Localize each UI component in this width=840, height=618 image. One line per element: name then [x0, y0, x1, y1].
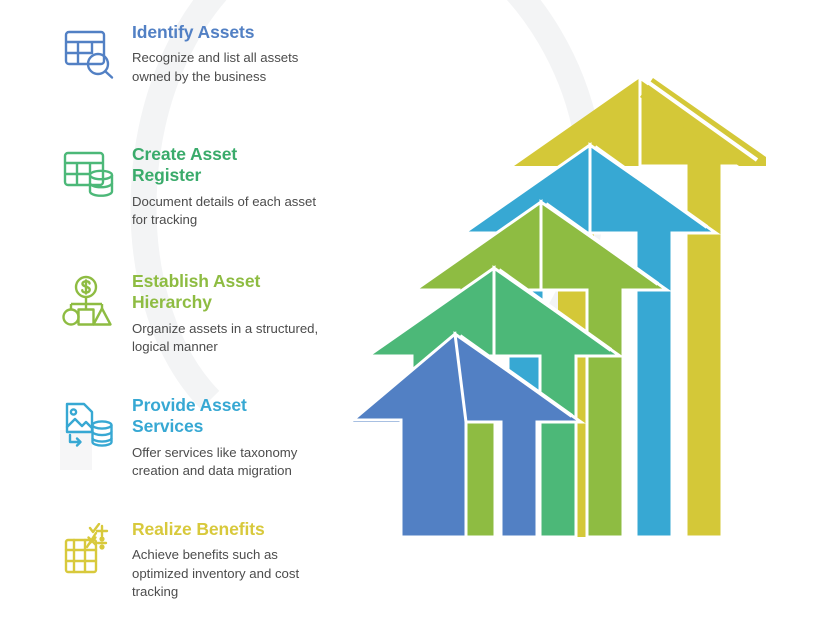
step-title: Establish Asset Hierarchy	[132, 271, 297, 314]
infographic-canvas: Identify Assets Recognize and list all a…	[0, 0, 840, 618]
step-item-establish-asset-hierarchy: Establish Asset Hierarchy Organize asset…	[62, 271, 362, 381]
step-description: Organize assets in a structured, logical…	[132, 320, 322, 356]
table-search-icon	[62, 26, 120, 80]
step-description: Document details of each asset for track…	[132, 193, 317, 229]
step-description: Offer services like taxonomy creation an…	[132, 444, 332, 480]
step-body: Provide Asset Services Offer services li…	[132, 395, 362, 480]
step-body: Create Asset Register Document details o…	[132, 144, 362, 229]
table-database-icon	[62, 148, 120, 202]
step-body: Identify Assets Recognize and list all a…	[132, 22, 362, 86]
step-description: Achieve benefits such as optimized inven…	[132, 546, 317, 601]
step-item-identify-assets: Identify Assets Recognize and list all a…	[62, 22, 362, 130]
step-item-provide-asset-services: Provide Asset Services Offer services li…	[62, 395, 362, 505]
step-title: Identify Assets	[132, 22, 362, 43]
nested-growth-arrows	[340, 60, 780, 560]
step-body: Realize Benefits Achieve benefits such a…	[132, 519, 362, 601]
step-title: Realize Benefits	[132, 519, 362, 540]
dollar-hierarchy-icon	[62, 275, 120, 329]
step-item-create-asset-register: Create Asset Register Document details o…	[62, 144, 362, 257]
step-title: Create Asset Register	[132, 144, 292, 187]
image-file-database-icon	[62, 399, 120, 453]
steps-list: Identify Assets Recognize and list all a…	[62, 22, 362, 618]
step-body: Establish Asset Hierarchy Organize asset…	[132, 271, 362, 356]
step-description: Recognize and list all assets owned by t…	[132, 49, 332, 85]
step-item-realize-benefits: Realize Benefits Achieve benefits such a…	[62, 519, 362, 618]
calculator-chart-icon	[62, 523, 120, 577]
step-title: Provide Asset Services	[132, 395, 282, 438]
